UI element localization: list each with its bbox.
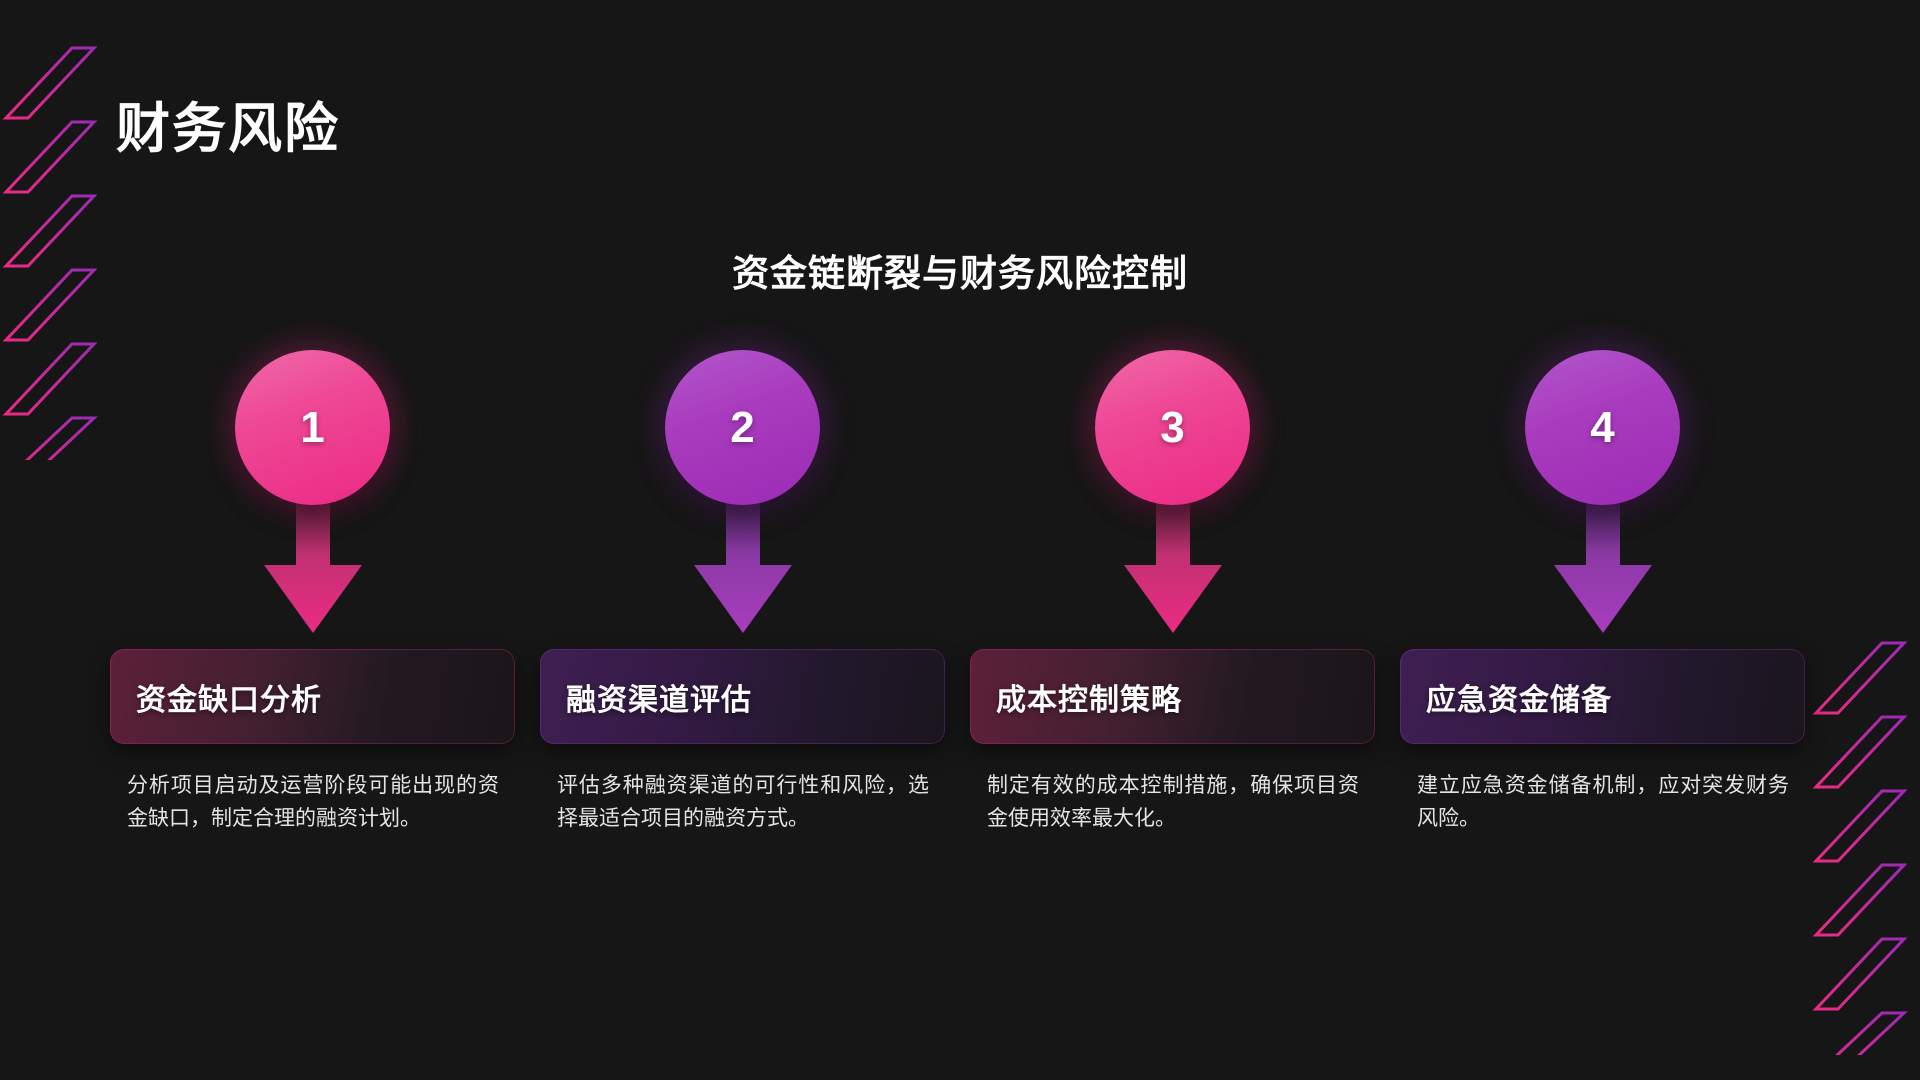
section-subtitle: 资金链断裂与财务风险控制 [0,243,1920,297]
process-step-1: 1 资金缺口分析 分析项目启动及运营阶段可能出现的资金缺口 [110,350,515,856]
down-arrow-icon-1 [258,493,368,641]
down-arrow-icon-4 [1548,493,1658,641]
process-step-3: 3 成本控制策略 制定有效的成本控制措施，确保项目资金使用 [970,350,1375,856]
step-number-label: 3 [1160,406,1184,450]
process-step-2: 2 融资渠道评估 评估多种融资渠道的可行性和风险，选择最适 [540,350,945,856]
step-number-badge-3: 3 [1095,350,1250,505]
slide-canvas: 财务风险 资金链断裂与财务风险控制 1 [0,0,1920,1080]
down-arrow-icon-2 [688,493,798,641]
step-number-badge-2: 2 [665,350,820,505]
step-card-title: 应急资金储备 [1426,675,1612,719]
step-description-3: 制定有效的成本控制措施，确保项目资金使用效率最大化。 [987,770,1359,835]
step-number-badge-4: 4 [1525,350,1680,505]
step-description-4: 建立应急资金储备机制，应对突发财务风险。 [1417,770,1789,835]
step-number-badge-1: 1 [235,350,390,505]
step-number-label: 2 [730,406,754,450]
step-card-2[interactable]: 融资渠道评估 [540,649,945,744]
step-description-2: 评估多种融资渠道的可行性和风险，选择最适合项目的融资方式。 [557,770,929,835]
step-card-title: 资金缺口分析 [136,675,322,719]
step-number-label: 4 [1590,406,1614,450]
process-step-4: 4 应急资金储备 建立应急资金储备机制，应对突发财务风险。 [1400,350,1805,856]
step-card-4[interactable]: 应急资金储备 [1400,649,1805,744]
step-number-label: 1 [300,406,324,450]
process-steps: 1 资金缺口分析 分析项目启动及运营阶段可能出现的资金缺口 [110,350,1830,856]
step-card-3[interactable]: 成本控制策略 [970,649,1375,744]
step-description-1: 分析项目启动及运营阶段可能出现的资金缺口，制定合理的融资计划。 [127,770,499,835]
down-arrow-icon-3 [1118,493,1228,641]
page-title: 财务风险 [116,98,340,160]
step-card-title: 成本控制策略 [996,675,1182,719]
step-card-title: 融资渠道评估 [566,675,752,719]
step-card-1[interactable]: 资金缺口分析 [110,649,515,744]
